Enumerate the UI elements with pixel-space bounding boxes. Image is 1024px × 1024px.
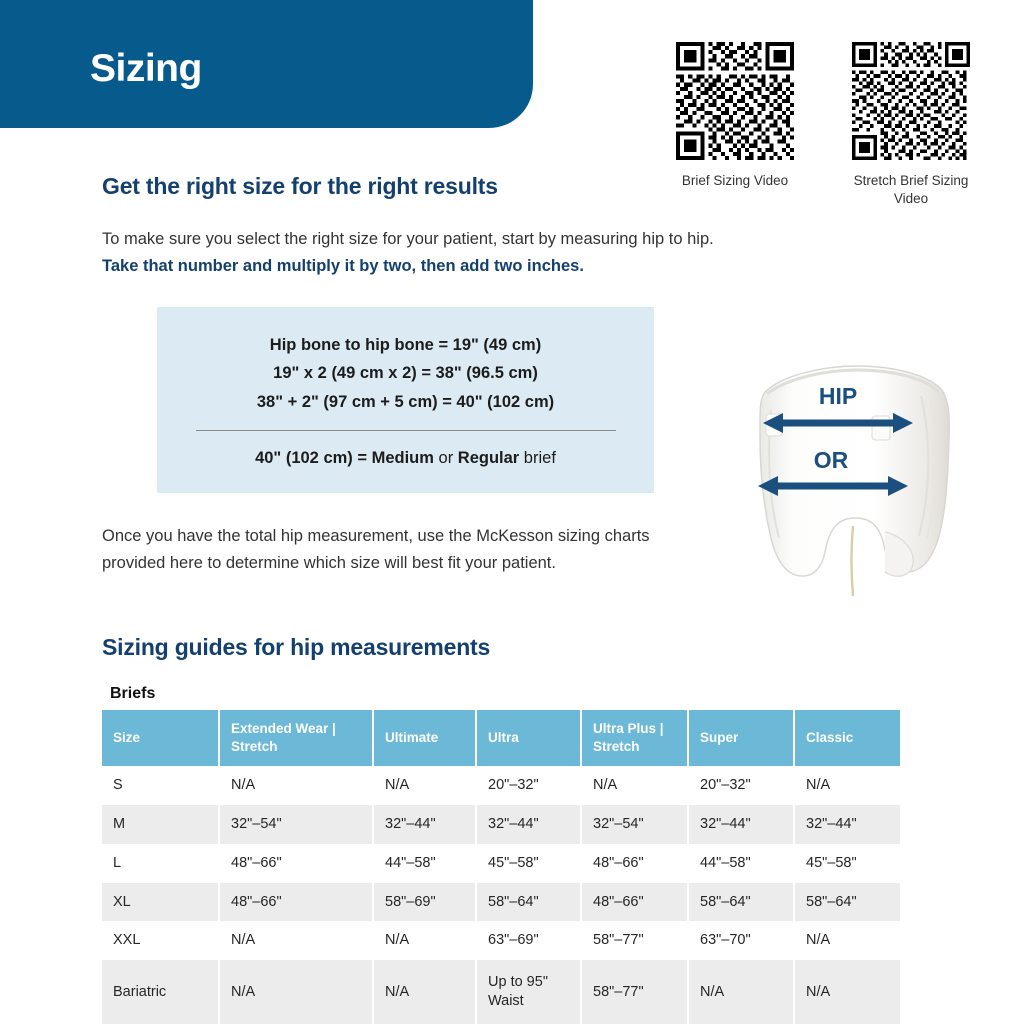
- cell-size: S: [102, 766, 219, 805]
- qr-code-icon[interactable]: [676, 42, 794, 160]
- cell-ultra: 20"–32": [476, 766, 581, 805]
- calc-divider: [196, 430, 616, 431]
- cell-extended-wear: N/A: [219, 921, 373, 960]
- cell-classic: N/A: [794, 960, 900, 1024]
- calc-result-middle: or: [434, 449, 458, 467]
- table-row: XL 48"–66" 58"–69" 58"–64" 48"–66" 58"–6…: [102, 883, 900, 922]
- header-banner: Sizing: [0, 0, 533, 128]
- calculation-example-box: Hip bone to hip bone = 19" (49 cm) 19" x…: [157, 307, 654, 493]
- cell-classic: 58"–64": [794, 883, 900, 922]
- cell-ultra: 63"–69": [476, 921, 581, 960]
- cell-ultra-plus: 58"–77": [581, 960, 688, 1024]
- qr-code-group: Brief Sizing Video: [672, 42, 974, 208]
- calc-result-prefix: 40" (102 cm) =: [255, 449, 372, 467]
- cell-ultra: 32"–44": [476, 805, 581, 844]
- calc-line-1: Hip bone to hip bone = 19" (49 cm): [157, 331, 654, 359]
- cell-classic: 32"–44": [794, 805, 900, 844]
- calc-line-2: 19" x 2 (49 cm x 2) = 38" (96.5 cm): [157, 359, 654, 387]
- column-header-ultimate: Ultimate: [373, 710, 476, 766]
- qr-caption: Stretch Brief Sizing Video: [848, 172, 974, 208]
- calc-result-line: 40" (102 cm) = Medium or Regular brief: [157, 449, 654, 468]
- cell-ultimate: N/A: [373, 766, 476, 805]
- cell-extended-wear: 48"–66": [219, 844, 373, 883]
- cell-ultimate: N/A: [373, 921, 476, 960]
- cell-ultra-plus: 32"–54": [581, 805, 688, 844]
- intro-paragraph-normal: To make sure you select the right size f…: [102, 230, 714, 248]
- cell-extended-wear: N/A: [219, 960, 373, 1024]
- cell-super: 44"–58": [688, 844, 794, 883]
- cell-extended-wear: N/A: [219, 766, 373, 805]
- calc-line-3: 38" + 2" (97 cm + 5 cm) = 40" (102 cm): [157, 388, 654, 416]
- cell-classic: N/A: [794, 921, 900, 960]
- cell-size: L: [102, 844, 219, 883]
- table-row: L 48"–66" 44"–58" 45"–58" 48"–66" 44"–58…: [102, 844, 900, 883]
- cell-ultra-plus: 58"–77": [581, 921, 688, 960]
- calc-result-suffix: brief: [519, 449, 556, 467]
- cell-super: N/A: [688, 960, 794, 1024]
- cell-ultra: Up to 95" Waist: [476, 960, 581, 1024]
- body-paragraph: Once you have the total hip measurement,…: [102, 523, 712, 576]
- cell-super: 63"–70": [688, 921, 794, 960]
- cell-size: XXL: [102, 921, 219, 960]
- qr-caption: Brief Sizing Video: [682, 172, 788, 190]
- qr-code-icon[interactable]: [852, 42, 970, 160]
- qr-block-stretch-brief-sizing-video[interactable]: Stretch Brief Sizing Video: [848, 42, 974, 208]
- cell-classic: N/A: [794, 766, 900, 805]
- calc-result-bold-regular: Regular: [458, 449, 519, 467]
- cell-ultra: 58"–64": [476, 883, 581, 922]
- adult-brief-image: HIP OR: [735, 358, 975, 608]
- qr-block-brief-sizing-video[interactable]: Brief Sizing Video: [672, 42, 798, 208]
- cell-extended-wear: 32"–54": [219, 805, 373, 844]
- cell-ultra-plus: N/A: [581, 766, 688, 805]
- product-illustration: HIP OR: [735, 358, 975, 608]
- cell-size: XL: [102, 883, 219, 922]
- cell-super: 20"–32": [688, 766, 794, 805]
- or-label: OR: [814, 447, 849, 473]
- table-row: Bariatric N/A N/A Up to 95" Waist 58"–77…: [102, 960, 900, 1024]
- table-row: S N/A N/A 20"–32" N/A 20"–32" N/A: [102, 766, 900, 805]
- cell-ultimate: 58"–69": [373, 883, 476, 922]
- column-header-classic: Classic: [794, 710, 900, 766]
- column-header-size: Size: [102, 710, 219, 766]
- cell-super: 32"–44": [688, 805, 794, 844]
- sizing-guide-page: Sizing: [0, 0, 1024, 1024]
- sizing-guides-heading: Sizing guides for hip measurements: [102, 634, 490, 661]
- cell-ultimate: 32"–44": [373, 805, 476, 844]
- table-label-briefs: Briefs: [110, 685, 155, 703]
- column-header-extended-wear-stretch: Extended Wear | Stretch: [219, 710, 373, 766]
- table-row: M 32"–54" 32"–44" 32"–44" 32"–54" 32"–44…: [102, 805, 900, 844]
- hip-label: HIP: [819, 383, 857, 409]
- calc-result-bold-medium: Medium: [372, 449, 434, 467]
- cell-classic: 45"–58": [794, 844, 900, 883]
- column-header-ultra-plus-stretch: Ultra Plus | Stretch: [581, 710, 688, 766]
- column-header-super: Super: [688, 710, 794, 766]
- intro-heading: Get the right size for the right results: [102, 173, 498, 200]
- cell-ultimate: N/A: [373, 960, 476, 1024]
- table-header-row: Size Extended Wear | Stretch Ultimate Ul…: [102, 710, 900, 766]
- intro-paragraph: To make sure you select the right size f…: [102, 226, 732, 279]
- cell-ultra-plus: 48"–66": [581, 844, 688, 883]
- intro-paragraph-emphasis: Take that number and multiply it by two,…: [102, 257, 584, 275]
- cell-ultra: 45"–58": [476, 844, 581, 883]
- page-title: Sizing: [90, 47, 202, 91]
- column-header-ultra: Ultra: [476, 710, 581, 766]
- table-row: XXL N/A N/A 63"–69" 58"–77" 63"–70" N/A: [102, 921, 900, 960]
- cell-size: Bariatric: [102, 960, 219, 1024]
- cell-ultimate: 44"–58": [373, 844, 476, 883]
- cell-extended-wear: 48"–66": [219, 883, 373, 922]
- cell-super: 58"–64": [688, 883, 794, 922]
- briefs-sizing-table: Size Extended Wear | Stretch Ultimate Ul…: [102, 710, 900, 1024]
- cell-ultra-plus: 48"–66": [581, 883, 688, 922]
- cell-size: M: [102, 805, 219, 844]
